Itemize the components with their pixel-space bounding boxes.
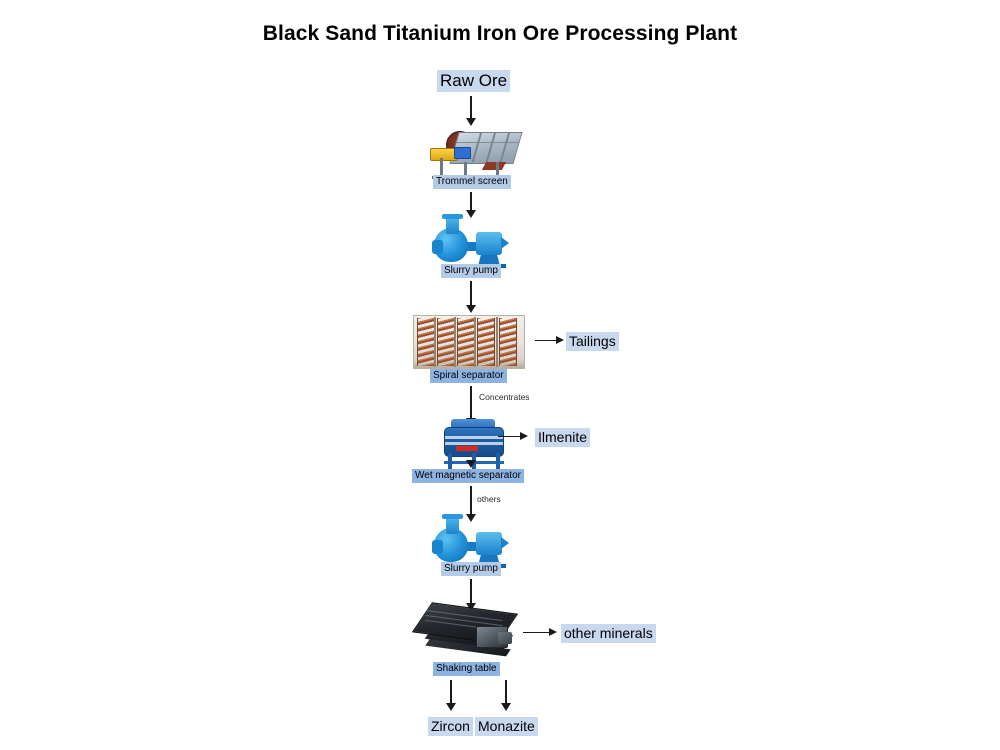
slurry-pump-icon-2 [432, 516, 510, 568]
node-slurry-pump-2-label: Slurry pump [441, 562, 501, 576]
output-monazite: Monazite [475, 717, 538, 736]
stream-label-concentrates: Concentrates [479, 392, 530, 402]
shaking-table-icon [418, 604, 522, 658]
output-ilmenite: Ilmenite [535, 428, 590, 447]
output-other-minerals: other minerals [561, 624, 656, 643]
connector-shaking-table-to-other-minerals [523, 632, 551, 633]
node-shaking-table-label: Shaking table [433, 662, 500, 676]
spiral-separator-icon [413, 315, 525, 369]
node-slurry-pump-1-label: Slurry pump [441, 264, 501, 278]
slurry-pump-icon-1 [432, 216, 510, 268]
connector-wms-to-ilmenite [498, 436, 522, 437]
node-trommel-screen-label: Trommel screen [433, 175, 511, 189]
arrow-wms-to-ilmenite [520, 432, 528, 440]
arrow-shaking-table-to-zircon [446, 703, 456, 711]
trommel-screen-icon [424, 124, 520, 182]
page-title: Black Sand Titanium Iron Ore Processing … [0, 22, 1000, 46]
node-raw-ore: Raw Ore [437, 70, 510, 92]
output-zircon: Zircon [428, 717, 473, 736]
connector-spiral-to-tailings [535, 340, 558, 341]
arrow-wms-drop [466, 460, 476, 468]
arrow-spiral-to-tailings [556, 336, 564, 344]
arrow-shaking-table-to-monazite [501, 703, 511, 711]
arrow-pump1-to-spiral [466, 305, 476, 313]
output-tailings: Tailings [566, 332, 619, 351]
node-spiral-separator-label: Spiral separator [430, 369, 507, 383]
node-wet-magnetic-separator-label: Wet magnetic separator [412, 469, 524, 483]
stream-label-others: others [477, 494, 501, 504]
arrow-shaking-table-to-other-minerals [549, 628, 557, 636]
